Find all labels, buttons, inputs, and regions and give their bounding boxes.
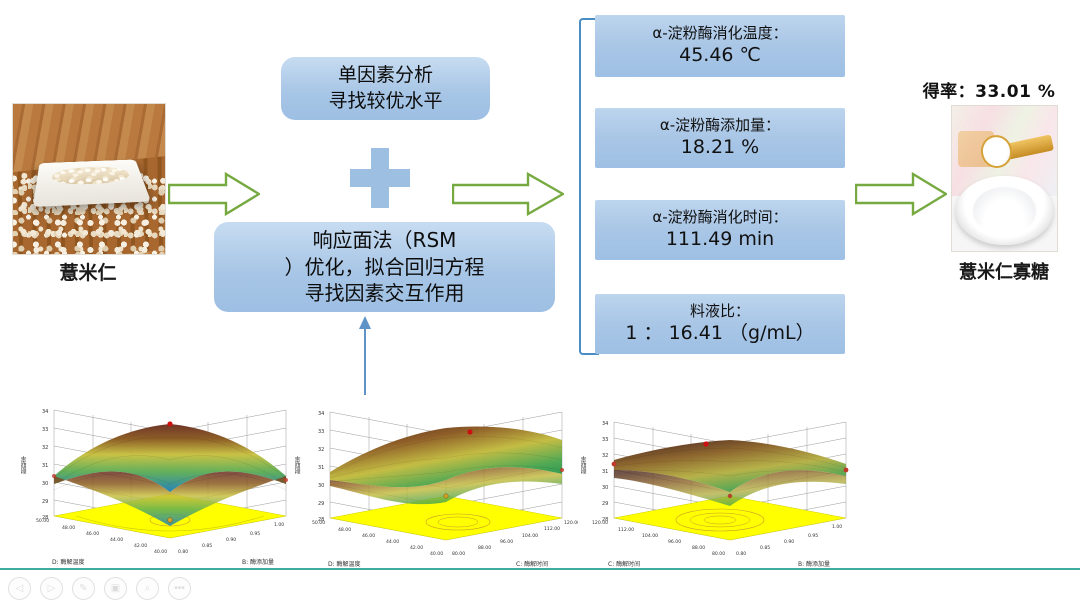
- bowl-grains: [52, 166, 132, 186]
- svg-text:42.00: 42.00: [134, 543, 147, 549]
- slide-canvas: 薏米仁 单因素分析 寻找较优水平 响应面法（RSM ）优化，拟合回归方程 寻找因…: [0, 0, 1080, 601]
- svg-text:32: 32: [318, 447, 324, 453]
- svg-text:1.00: 1.00: [832, 524, 842, 530]
- parameter-value: 18.21 %: [681, 135, 760, 161]
- save-icon[interactable]: ▣: [104, 577, 127, 600]
- yield-readout: 得率：33.01 %: [900, 77, 1078, 102]
- svg-text:0.90: 0.90: [226, 537, 236, 543]
- plot-x-label: D: 酶解温度: [52, 557, 85, 566]
- plot-x-label: C: 酶解时间: [608, 559, 640, 568]
- svg-text:32: 32: [602, 453, 608, 459]
- svg-text:112.00: 112.00: [544, 526, 560, 532]
- svg-text:80.00: 80.00: [712, 551, 725, 557]
- svg-text:42.00: 42.00: [410, 545, 423, 551]
- svg-text:30: 30: [318, 483, 324, 489]
- zoom-icon[interactable]: ⌕: [136, 577, 159, 600]
- single-factor-line1: 单因素分析: [338, 63, 433, 88]
- svg-text:0.90: 0.90: [784, 539, 794, 545]
- plot-y-label: C: 酶解时间: [516, 559, 548, 568]
- rsm-optimization-box[interactable]: 响应面法（RSM ）优化，拟合回归方程 寻找因素交互作用: [214, 222, 555, 312]
- svg-text:46.00: 46.00: [362, 533, 375, 539]
- rsm-source-arrow: [357, 315, 373, 395]
- svg-text:29: 29: [42, 499, 48, 505]
- plus-icon: [350, 148, 410, 208]
- single-factor-line2: 寻找较优水平: [328, 89, 442, 114]
- coix-seed-caption: 薏米仁: [12, 258, 164, 285]
- yield-value-text: 33.01 %: [975, 82, 1055, 102]
- parameter-box-solid-liquid-ratio[interactable]: 料液比： 1 ： 16.41 （g/mL）: [595, 294, 845, 354]
- svg-text:44.00: 44.00: [110, 537, 123, 543]
- parameter-title: α-淀粉酶添加量：: [660, 115, 780, 135]
- parameter-title: α-淀粉酶消化温度：: [652, 23, 787, 43]
- svg-text:104.00: 104.00: [642, 533, 658, 539]
- plot-y-label: B: 酶添加量: [242, 557, 274, 566]
- flow-arrow-3: [855, 172, 947, 216]
- product-caption: 薏米仁寡糖: [926, 258, 1080, 284]
- plot-z-label: 耐取率: [580, 456, 589, 474]
- svg-text:40.00: 40.00: [154, 549, 167, 555]
- flow-arrow-1: [168, 172, 260, 216]
- pen-icon[interactable]: ✎: [72, 577, 95, 600]
- svg-text:96.00: 96.00: [500, 539, 513, 545]
- svg-text:112.00: 112.00: [618, 527, 634, 533]
- oligosaccharide-product-image: [951, 105, 1058, 252]
- svg-text:48.00: 48.00: [62, 525, 75, 531]
- svg-text:31: 31: [318, 465, 324, 471]
- svg-text:31: 31: [42, 463, 48, 469]
- play-icon[interactable]: ▷: [40, 577, 63, 600]
- svg-text:88.00: 88.00: [478, 545, 491, 551]
- previous-icon[interactable]: ◁: [8, 577, 31, 600]
- svg-text:34: 34: [602, 421, 608, 427]
- parameter-box-temperature[interactable]: α-淀粉酶消化温度： 45.46 ℃: [595, 15, 845, 77]
- svg-text:0.80: 0.80: [736, 551, 746, 557]
- plot-y-label: B: 酶添加量: [798, 559, 830, 568]
- plot-x-label: D: 酶解温度: [328, 559, 361, 568]
- svg-text:50.00: 50.00: [36, 518, 49, 524]
- single-factor-analysis-box[interactable]: 单因素分析 寻找较优水平: [281, 57, 490, 120]
- parameter-box-enzyme-dosage[interactable]: α-淀粉酶添加量： 18.21 %: [595, 108, 845, 168]
- player-toolbar[interactable]: ◁ ▷ ✎ ▣ ⌕ •••: [8, 576, 191, 600]
- svg-text:50.00: 50.00: [312, 520, 325, 526]
- svg-text:120.00: 120.00: [564, 520, 578, 526]
- svg-text:0.95: 0.95: [808, 533, 818, 539]
- flow-arrow-2: [452, 172, 564, 216]
- svg-text:0.80: 0.80: [178, 549, 188, 555]
- response-surface-plot-2: 343332 313029 28 50.0048.0046.00 44.0042…: [288, 398, 578, 576]
- svg-text:30: 30: [602, 485, 608, 491]
- svg-text:30: 30: [42, 481, 48, 487]
- svg-text:80.00: 80.00: [452, 551, 465, 557]
- yield-label-text: 得率：: [923, 82, 976, 102]
- svg-text:34: 34: [42, 409, 48, 415]
- coix-seed-image: [12, 103, 166, 255]
- parameter-value: 1 ： 16.41 （g/mL）: [625, 321, 814, 347]
- svg-text:0.85: 0.85: [202, 543, 212, 549]
- plot-z-label: 耐取率: [20, 456, 29, 474]
- white-bowl: [33, 159, 151, 207]
- svg-text:33: 33: [42, 427, 48, 433]
- svg-text:88.00: 88.00: [692, 545, 705, 551]
- rsm-line2: ）优化，拟合回归方程: [285, 254, 485, 280]
- white-powder: [973, 187, 1036, 233]
- svg-text:31: 31: [602, 469, 608, 475]
- svg-text:0.85: 0.85: [760, 545, 770, 551]
- svg-text:120.00: 120.00: [592, 520, 608, 526]
- svg-text:96.00: 96.00: [668, 539, 681, 545]
- response-surface-plot-3: 343332 313029 28 120.00112.00104.00 96.0…: [578, 398, 868, 576]
- svg-text:44.00: 44.00: [386, 539, 399, 545]
- svg-text:29: 29: [602, 501, 608, 507]
- parameter-box-digestion-time[interactable]: α-淀粉酶消化时间： 111.49 min: [595, 200, 845, 260]
- parameter-title: 料液比：: [690, 301, 750, 321]
- svg-text:32: 32: [42, 445, 48, 451]
- svg-text:34: 34: [318, 411, 324, 417]
- bottom-divider: [0, 568, 1080, 570]
- parameter-value: 45.46 ℃: [679, 43, 761, 69]
- more-icon[interactable]: •••: [168, 577, 191, 600]
- parameter-value: 111.49 min: [666, 227, 774, 253]
- svg-text:29: 29: [318, 501, 324, 507]
- rsm-line3: 寻找因素交互作用: [305, 280, 465, 306]
- svg-text:40.00: 40.00: [430, 551, 443, 557]
- response-surface-plot-1: 343332 313029 28 50.0048.0046.00 44.0042…: [18, 398, 308, 576]
- svg-text:104.00: 104.00: [522, 533, 538, 539]
- parameter-title: α-淀粉酶消化时间：: [652, 207, 787, 227]
- rsm-line1: 响应面法（RSM: [313, 227, 457, 253]
- plot-z-label: 耐取率: [294, 456, 303, 474]
- svg-text:46.00: 46.00: [86, 531, 99, 537]
- svg-text:1.00: 1.00: [274, 522, 284, 528]
- svg-text:33: 33: [602, 437, 608, 443]
- svg-text:33: 33: [318, 429, 324, 435]
- svg-text:48.00: 48.00: [338, 527, 351, 533]
- svg-text:0.95: 0.95: [250, 531, 260, 537]
